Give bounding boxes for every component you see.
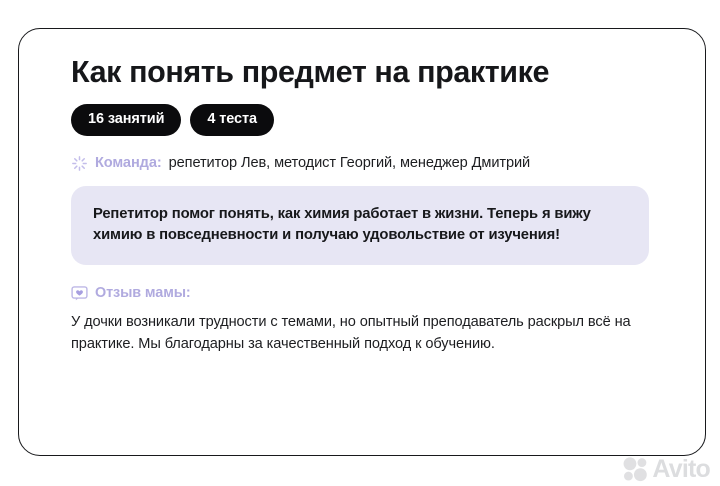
page-title: Как понять предмет на практике <box>71 55 667 89</box>
status-badge-tests: 4 теста <box>190 104 274 136</box>
avito-dots-icon <box>622 456 648 482</box>
quote-text: Репетитор помог понять, как химия работа… <box>93 204 627 247</box>
badge-list: 16 занятий 4 теста <box>71 104 667 136</box>
offer-card: Как понять предмет на практике 16 заняти… <box>18 28 706 456</box>
speech-bubble-heart-icon <box>71 286 88 301</box>
card-content: Как понять предмет на практике 16 заняти… <box>71 55 667 356</box>
review-body-text: У дочки возникали трудности с темами, но… <box>71 312 661 356</box>
sparkle-icon <box>71 155 88 172</box>
team-row: Команда: репетитор Лев, методист Георгий… <box>71 155 667 172</box>
quote-box: Репетитор помог понять, как химия работа… <box>71 186 649 266</box>
avito-wordmark: Avito <box>652 457 710 482</box>
review-header: Отзыв мамы: <box>71 285 667 301</box>
status-badge-lessons: 16 занятий <box>71 104 181 136</box>
team-members: репетитор Лев, методист Георгий, менедже… <box>169 155 531 171</box>
review-label: Отзыв мамы: <box>95 285 191 301</box>
team-label: Команда: <box>95 155 162 171</box>
avito-watermark: Avito <box>622 456 710 482</box>
screenshot-stage: Как понять предмет на практике 16 заняти… <box>0 0 720 486</box>
